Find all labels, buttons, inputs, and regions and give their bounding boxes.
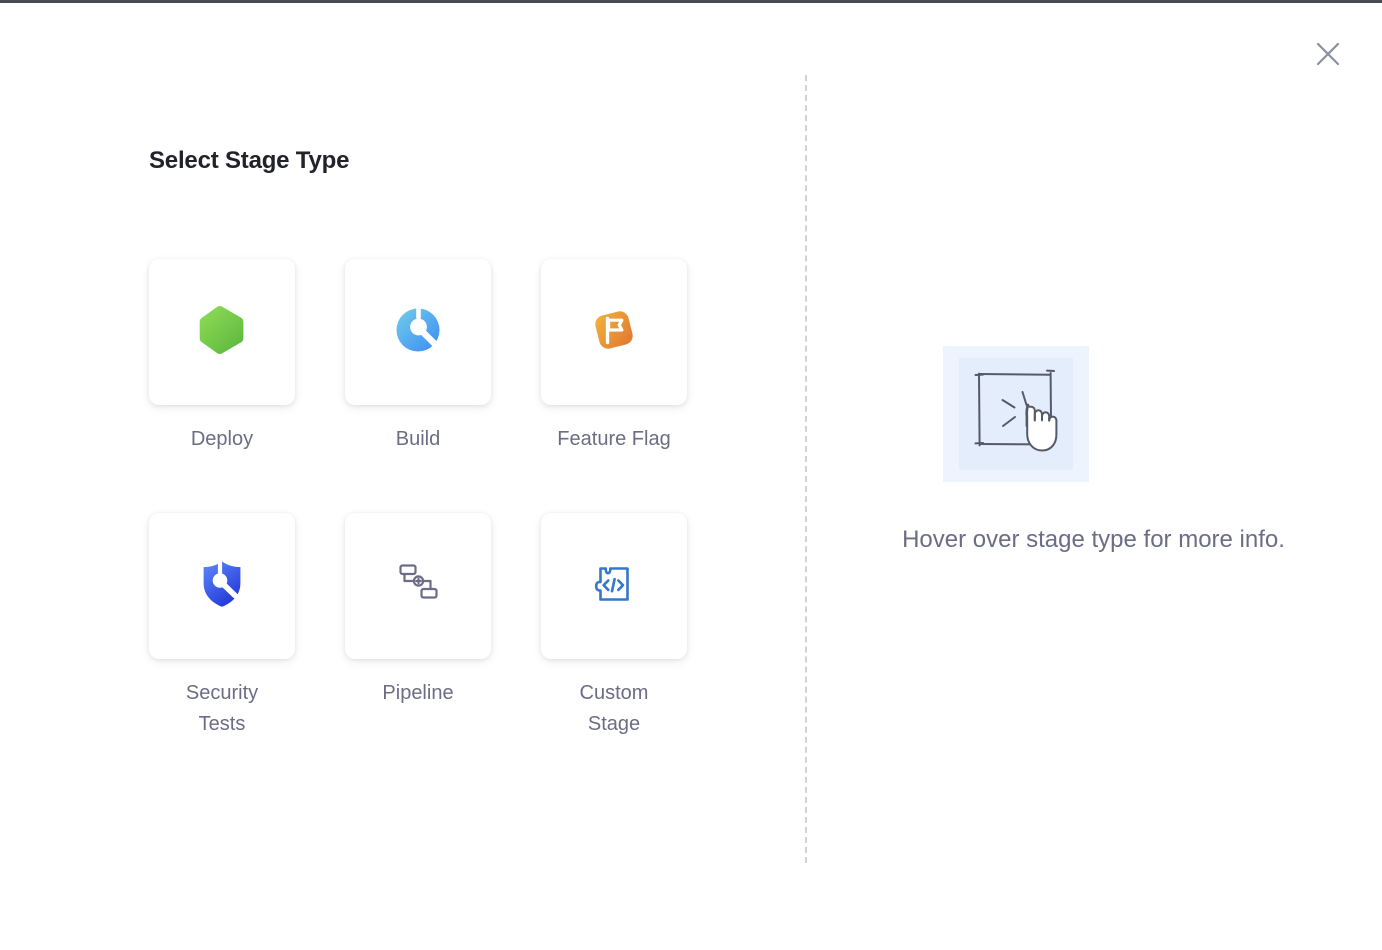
click-hand-square-illustration [943,346,1089,482]
build-magnifier-circle-icon [395,307,441,358]
stage-type-label: Build [358,424,478,455]
select-stage-type-dialog: Select Stage Type [0,0,1382,950]
deploy-hexagon-infinity-icon [199,305,245,360]
feature-flag-icon [590,306,638,359]
stage-type-tile[interactable] [345,259,491,405]
stage-info-panel: Hover over stage type for more info. [805,3,1382,950]
stage-type-option-deploy[interactable]: Deploy [149,259,295,455]
click-hand-square-icon [966,362,1066,467]
stage-type-selection-panel: Select Stage Type [0,3,805,950]
stage-type-option-build[interactable]: Build [345,259,491,455]
stage-type-tile[interactable] [149,513,295,659]
custom-stage-puzzle-code-icon [591,561,637,612]
stage-type-option-custom-stage[interactable]: Custom Stage [541,513,687,740]
security-shield-magnifier-icon [200,560,244,613]
stage-type-tile[interactable] [345,513,491,659]
stage-type-option-security-tests[interactable]: Security Tests [149,513,295,740]
stage-type-label: Deploy [162,424,282,455]
stage-type-option-pipeline[interactable]: Pipeline [345,513,491,740]
stage-type-label: Pipeline [358,678,478,709]
stage-type-label: Feature Flag [554,424,674,455]
hover-hint-text: Hover over stage type for more info. [883,521,1305,558]
page-title: Select Stage Type [149,147,349,175]
stage-type-tile[interactable] [149,259,295,405]
pipeline-nodes-icon [394,560,442,613]
stage-type-option-feature-flag[interactable]: Feature Flag [541,259,687,455]
stage-type-grid: Deploy [149,259,709,740]
hover-hint-wrapper: Hover over stage type for more info. [805,521,1382,558]
stage-type-tile[interactable] [541,259,687,405]
stage-type-tile[interactable] [541,513,687,659]
stage-type-label: Security Tests [162,678,282,740]
stage-type-label: Custom Stage [554,678,674,740]
